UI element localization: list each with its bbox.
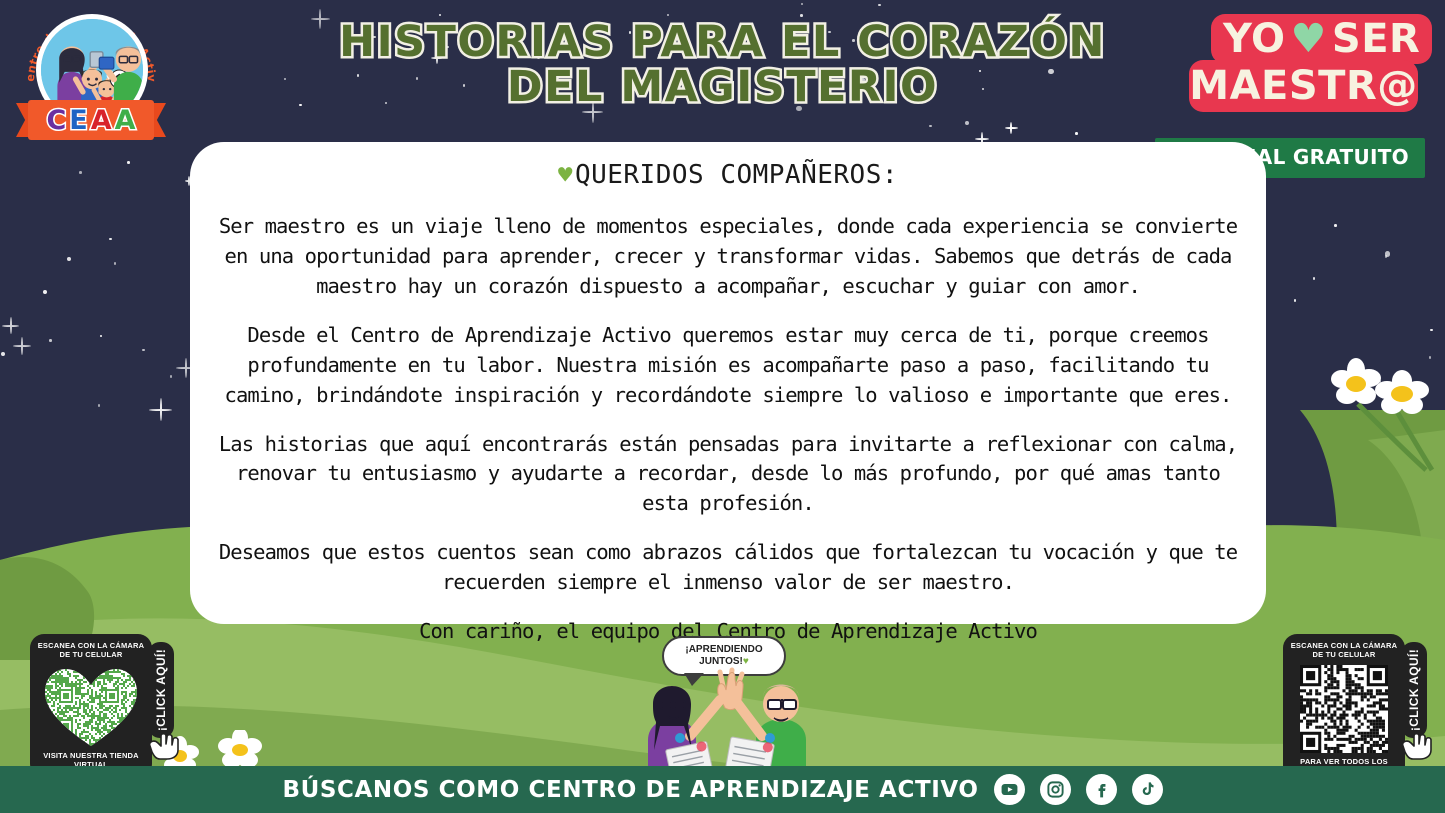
star-dot xyxy=(49,339,52,342)
star-dot xyxy=(965,121,969,125)
page-title: HISTORIAS PARA EL CORAZÓN DEL MAGISTERIO xyxy=(300,20,1145,110)
teachers-illustration: ¡APRENDIENDO JUNTOS!♥ xyxy=(620,636,842,776)
star-dot xyxy=(127,161,130,164)
click-here-label: ¡CLICK AQUÍ! xyxy=(154,649,168,731)
star-dot xyxy=(929,125,932,128)
star-dot xyxy=(114,262,117,265)
star-dot xyxy=(67,257,71,261)
logo-ribbon: C E A A xyxy=(16,96,166,144)
card-greeting-label: QUERIDOS COMPAÑEROS: xyxy=(575,160,898,190)
poster-canvas: Centro de Aprendizaje Activo xyxy=(0,0,1445,813)
star-sparkle xyxy=(2,317,19,334)
star-dot xyxy=(1430,329,1433,332)
qr-panel-videos[interactable]: ESCANEA CON LA CÁMARA DE TU CELULAR PARA… xyxy=(1283,634,1405,784)
speech-bubble-line-1: ¡APRENDIENDO xyxy=(685,644,762,656)
ceaa-logo[interactable]: Centro de Aprendizaje Activo xyxy=(14,8,169,148)
logo-letter-a1: A xyxy=(91,107,112,134)
youtube-icon[interactable] xyxy=(994,774,1025,805)
heart-icon: ♥ xyxy=(558,163,573,187)
star-dot xyxy=(1,352,5,356)
click-here-label: ¡CLICK AQUÍ! xyxy=(1407,649,1421,731)
letter-paragraph: Desde el Centro de Aprendizaje Activo qu… xyxy=(212,321,1244,411)
qr-code-heart[interactable] xyxy=(43,665,139,747)
teacher-characters xyxy=(620,664,842,776)
qr-caption-top: ESCANEA CON LA CÁMARA DE TU CELULAR xyxy=(1289,641,1399,660)
pointing-hand-icon xyxy=(146,730,180,760)
footer-bar: BÚSCANOS COMO CENTRO DE APRENDIZAJE ACTI… xyxy=(0,766,1445,813)
letter-paragraph: Las historias que aquí encontrarás están… xyxy=(212,430,1244,520)
facebook-icon[interactable] xyxy=(1086,774,1117,805)
logo-letter-a2: A xyxy=(115,107,136,134)
star-sparkle xyxy=(13,337,31,355)
letter-card: ♥ QUERIDOS COMPAÑEROS: Ser maestro es un… xyxy=(190,142,1266,624)
badge-ser-label: SER xyxy=(1332,16,1420,62)
click-here-tab[interactable]: ¡CLICK AQUÍ! xyxy=(1401,642,1427,738)
star-dot xyxy=(1313,277,1316,280)
qr-code-square[interactable] xyxy=(1300,665,1388,753)
logo-letter-e: E xyxy=(69,107,87,134)
qr-card[interactable]: ESCANEA CON LA CÁMARA DE TU CELULAR VISI… xyxy=(30,634,152,778)
click-here-tab[interactable]: ¡CLICK AQUÍ! xyxy=(148,642,174,738)
star-dot xyxy=(667,14,670,17)
badge-line-2: MAESTR@ xyxy=(1189,60,1418,112)
yo-ser-maestro-badge: YO ♥ SER MAESTR@ xyxy=(1189,14,1429,122)
logo-letter-c: C xyxy=(46,107,66,134)
star-dot xyxy=(1334,224,1337,227)
letter-body: Ser maestro es un viaje lleno de momento… xyxy=(212,212,1244,647)
qr-card[interactable]: ESCANEA CON LA CÁMARA DE TU CELULAR PARA… xyxy=(1283,634,1405,784)
badge-yo-label: YO xyxy=(1223,16,1286,62)
badge-line-1: YO ♥ SER xyxy=(1211,14,1432,64)
daisy-flowers-right xyxy=(1322,352,1445,472)
qr-caption-top: ESCANEA CON LA CÁMARA DE TU CELULAR xyxy=(36,641,146,660)
qr-panel-store[interactable]: ESCANEA CON LA CÁMARA DE TU CELULAR VISI… xyxy=(30,634,152,778)
star-dot xyxy=(170,375,173,378)
star-dot xyxy=(109,238,112,241)
heart-icon: ♥ xyxy=(1291,19,1327,59)
star-dot xyxy=(79,171,82,174)
tiktok-icon[interactable] xyxy=(1132,774,1163,805)
footer-label: BÚSCANOS COMO CENTRO DE APRENDIZAJE ACTI… xyxy=(282,777,978,803)
pointing-hand-icon xyxy=(1399,730,1433,760)
instagram-icon[interactable] xyxy=(1040,774,1071,805)
star-sparkle xyxy=(1005,122,1018,135)
letter-paragraph: Deseamos que estos cuentos sean como abr… xyxy=(212,538,1244,598)
letter-paragraph: Ser maestro es un viaje lleno de momento… xyxy=(212,212,1244,302)
card-greeting: ♥ QUERIDOS COMPAÑEROS: xyxy=(212,160,1244,190)
star-dot xyxy=(1075,132,1078,135)
